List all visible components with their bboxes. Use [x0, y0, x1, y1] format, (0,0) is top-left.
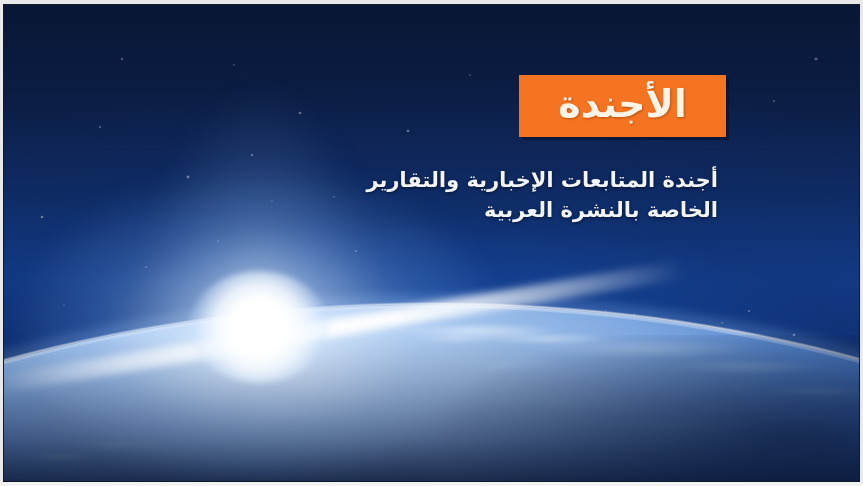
agenda-title-box: الأجندة [519, 75, 726, 137]
screenshot-root: الأجندة أجندة المتابعات الإخبارية والتقا… [0, 0, 863, 486]
subtitle-line-1: أجندة المتابعات الإخبارية والتقارير [288, 165, 718, 195]
agenda-banner: الأجندة أجندة المتابعات الإخبارية والتقا… [3, 4, 860, 482]
sun-core [189, 271, 329, 383]
bottom-page-strip [0, 482, 863, 486]
subtitle-line-2: الخاصة بالنشرة العربية [288, 195, 718, 225]
agenda-subtitle: أجندة المتابعات الإخبارية والتقارير الخا… [288, 165, 718, 226]
page-title: الأجندة [558, 85, 687, 127]
